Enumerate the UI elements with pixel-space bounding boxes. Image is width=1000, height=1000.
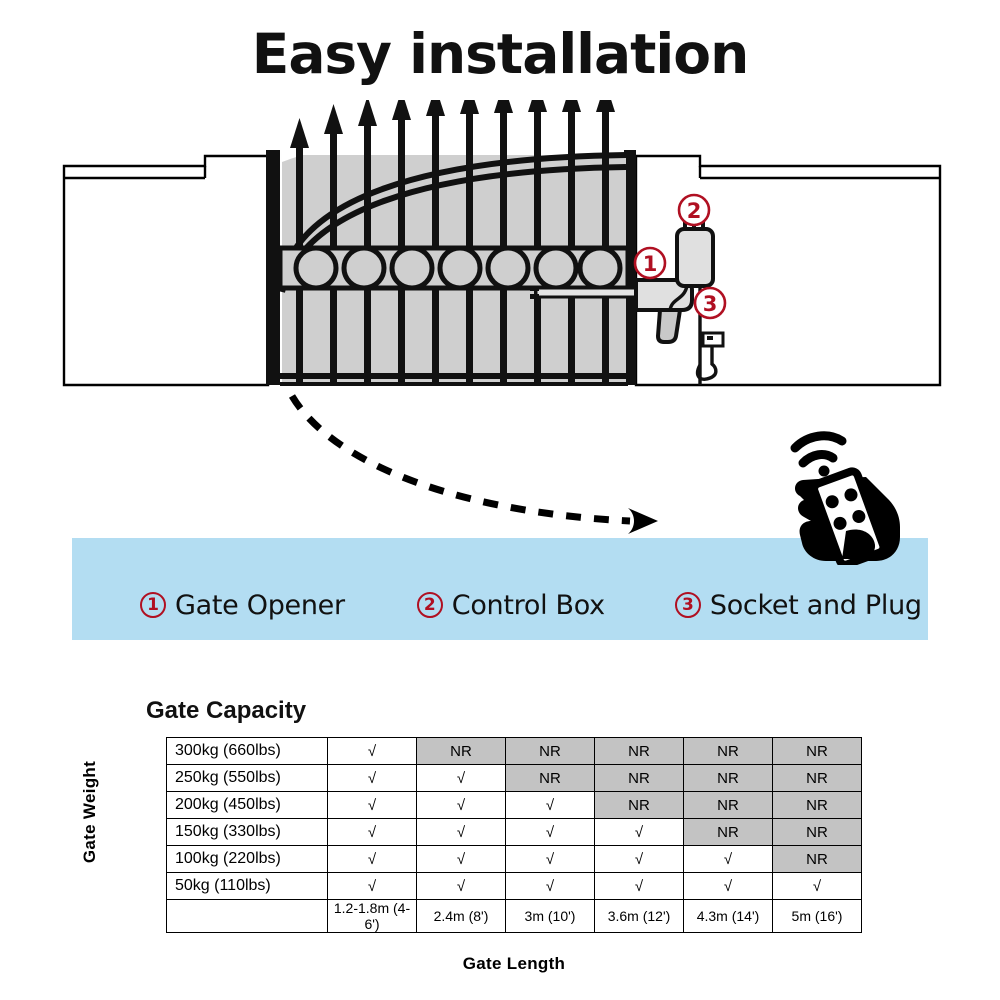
cell-supported: √ bbox=[328, 738, 417, 765]
cell-supported: √ bbox=[417, 792, 506, 819]
cell-not-recommended: NR bbox=[773, 792, 862, 819]
swing-direction-arrow bbox=[292, 396, 658, 534]
cell-not-recommended: NR bbox=[684, 765, 773, 792]
control-box bbox=[677, 221, 713, 286]
table-row: 250kg (550lbs)√√NRNRNRNR bbox=[167, 765, 862, 792]
weight-label: 100kg (220lbs) bbox=[167, 846, 328, 873]
cell-supported: √ bbox=[328, 873, 417, 900]
cell-not-recommended: NR bbox=[773, 765, 862, 792]
cell-supported: √ bbox=[595, 873, 684, 900]
weight-label: 250kg (550lbs) bbox=[167, 765, 328, 792]
axis-label-gate-weight-text: Gate Weight bbox=[80, 732, 100, 892]
cell-supported: √ bbox=[773, 873, 862, 900]
legend-number-2: 2 bbox=[417, 592, 443, 618]
table-row: 100kg (220lbs)√√√√√NR bbox=[167, 846, 862, 873]
table-row: 50kg (110lbs)√√√√√√ bbox=[167, 873, 862, 900]
cell-supported: √ bbox=[506, 873, 595, 900]
cell-not-recommended: NR bbox=[684, 792, 773, 819]
cell-not-recommended: NR bbox=[506, 738, 595, 765]
corner-cell bbox=[167, 900, 328, 933]
cell-supported: √ bbox=[506, 846, 595, 873]
cell-supported: √ bbox=[595, 846, 684, 873]
svg-text:1: 1 bbox=[643, 252, 658, 276]
length-label: 1.2-1.8m (4-6') bbox=[328, 900, 417, 933]
cell-supported: √ bbox=[417, 846, 506, 873]
length-label: 2.4m (8') bbox=[417, 900, 506, 933]
cell-not-recommended: NR bbox=[773, 846, 862, 873]
page-title: Easy installation bbox=[0, 22, 1000, 86]
cell-supported: √ bbox=[506, 819, 595, 846]
legend-label-1: Gate Opener bbox=[175, 590, 345, 621]
weight-label: 200kg (450lbs) bbox=[167, 792, 328, 819]
gate-mid-rail bbox=[280, 248, 628, 288]
axis-label-gate-length: Gate Length bbox=[166, 954, 862, 974]
legend-item-control-box: 2 Control Box bbox=[417, 590, 605, 621]
cell-not-recommended: NR bbox=[595, 765, 684, 792]
hand-holding-remote-icon bbox=[770, 425, 940, 565]
cell-supported: √ bbox=[417, 765, 506, 792]
legend-label-3: Socket and Plug bbox=[710, 590, 922, 621]
capacity-table-body: 300kg (660lbs)√NRNRNRNRNR250kg (550lbs)√… bbox=[167, 738, 862, 933]
cell-not-recommended: NR bbox=[506, 765, 595, 792]
cell-not-recommended: NR bbox=[595, 792, 684, 819]
table-row: 200kg (450lbs)√√√NRNRNR bbox=[167, 792, 862, 819]
cell-supported: √ bbox=[328, 846, 417, 873]
length-label: 5m (16') bbox=[773, 900, 862, 933]
cell-supported: √ bbox=[417, 819, 506, 846]
cell-supported: √ bbox=[328, 765, 417, 792]
cell-supported: √ bbox=[328, 792, 417, 819]
marker-2: 2 bbox=[679, 195, 709, 225]
length-label: 4.3m (14') bbox=[684, 900, 773, 933]
gate-opener-arm bbox=[530, 286, 646, 299]
cell-not-recommended: NR bbox=[684, 819, 773, 846]
cell-not-recommended: NR bbox=[417, 738, 506, 765]
cell-supported: √ bbox=[595, 819, 684, 846]
axis-label-gate-weight: Gate Weight bbox=[100, 610, 124, 770]
cell-supported: √ bbox=[506, 792, 595, 819]
table-row: 150kg (330lbs)√√√√NRNR bbox=[167, 819, 862, 846]
svg-text:3: 3 bbox=[703, 292, 718, 316]
cell-supported: √ bbox=[684, 846, 773, 873]
cell-not-recommended: NR bbox=[773, 738, 862, 765]
legend-number-3: 3 bbox=[675, 592, 701, 618]
weight-label: 50kg (110lbs) bbox=[167, 873, 328, 900]
marker-3: 3 bbox=[695, 288, 725, 318]
cell-not-recommended: NR bbox=[595, 738, 684, 765]
left-wall bbox=[64, 156, 268, 385]
gate-capacity-table: 300kg (660lbs)√NRNRNRNRNR250kg (550lbs)√… bbox=[166, 737, 862, 933]
weight-label: 300kg (660lbs) bbox=[167, 738, 328, 765]
legend-item-gate-opener: 1 Gate Opener bbox=[140, 590, 345, 621]
legend-item-socket-and-plug: 3 Socket and Plug bbox=[675, 590, 922, 621]
cell-supported: √ bbox=[417, 873, 506, 900]
cell-supported: √ bbox=[684, 873, 773, 900]
svg-text:2: 2 bbox=[687, 199, 702, 223]
length-label: 3m (10') bbox=[506, 900, 595, 933]
gate-capacity-heading: Gate Capacity bbox=[146, 697, 306, 725]
legend-number-1: 1 bbox=[140, 592, 166, 618]
length-label: 3.6m (12') bbox=[595, 900, 684, 933]
table-row-lengths: 1.2-1.8m (4-6')2.4m (8')3m (10')3.6m (12… bbox=[167, 900, 862, 933]
table-row: 300kg (660lbs)√NRNRNRNRNR bbox=[167, 738, 862, 765]
cell-not-recommended: NR bbox=[684, 738, 773, 765]
legend-label-2: Control Box bbox=[452, 590, 605, 621]
cell-not-recommended: NR bbox=[773, 819, 862, 846]
weight-label: 150kg (330lbs) bbox=[167, 819, 328, 846]
cell-supported: √ bbox=[328, 819, 417, 846]
marker-1: 1 bbox=[635, 248, 665, 278]
socket-and-plug bbox=[703, 333, 723, 346]
